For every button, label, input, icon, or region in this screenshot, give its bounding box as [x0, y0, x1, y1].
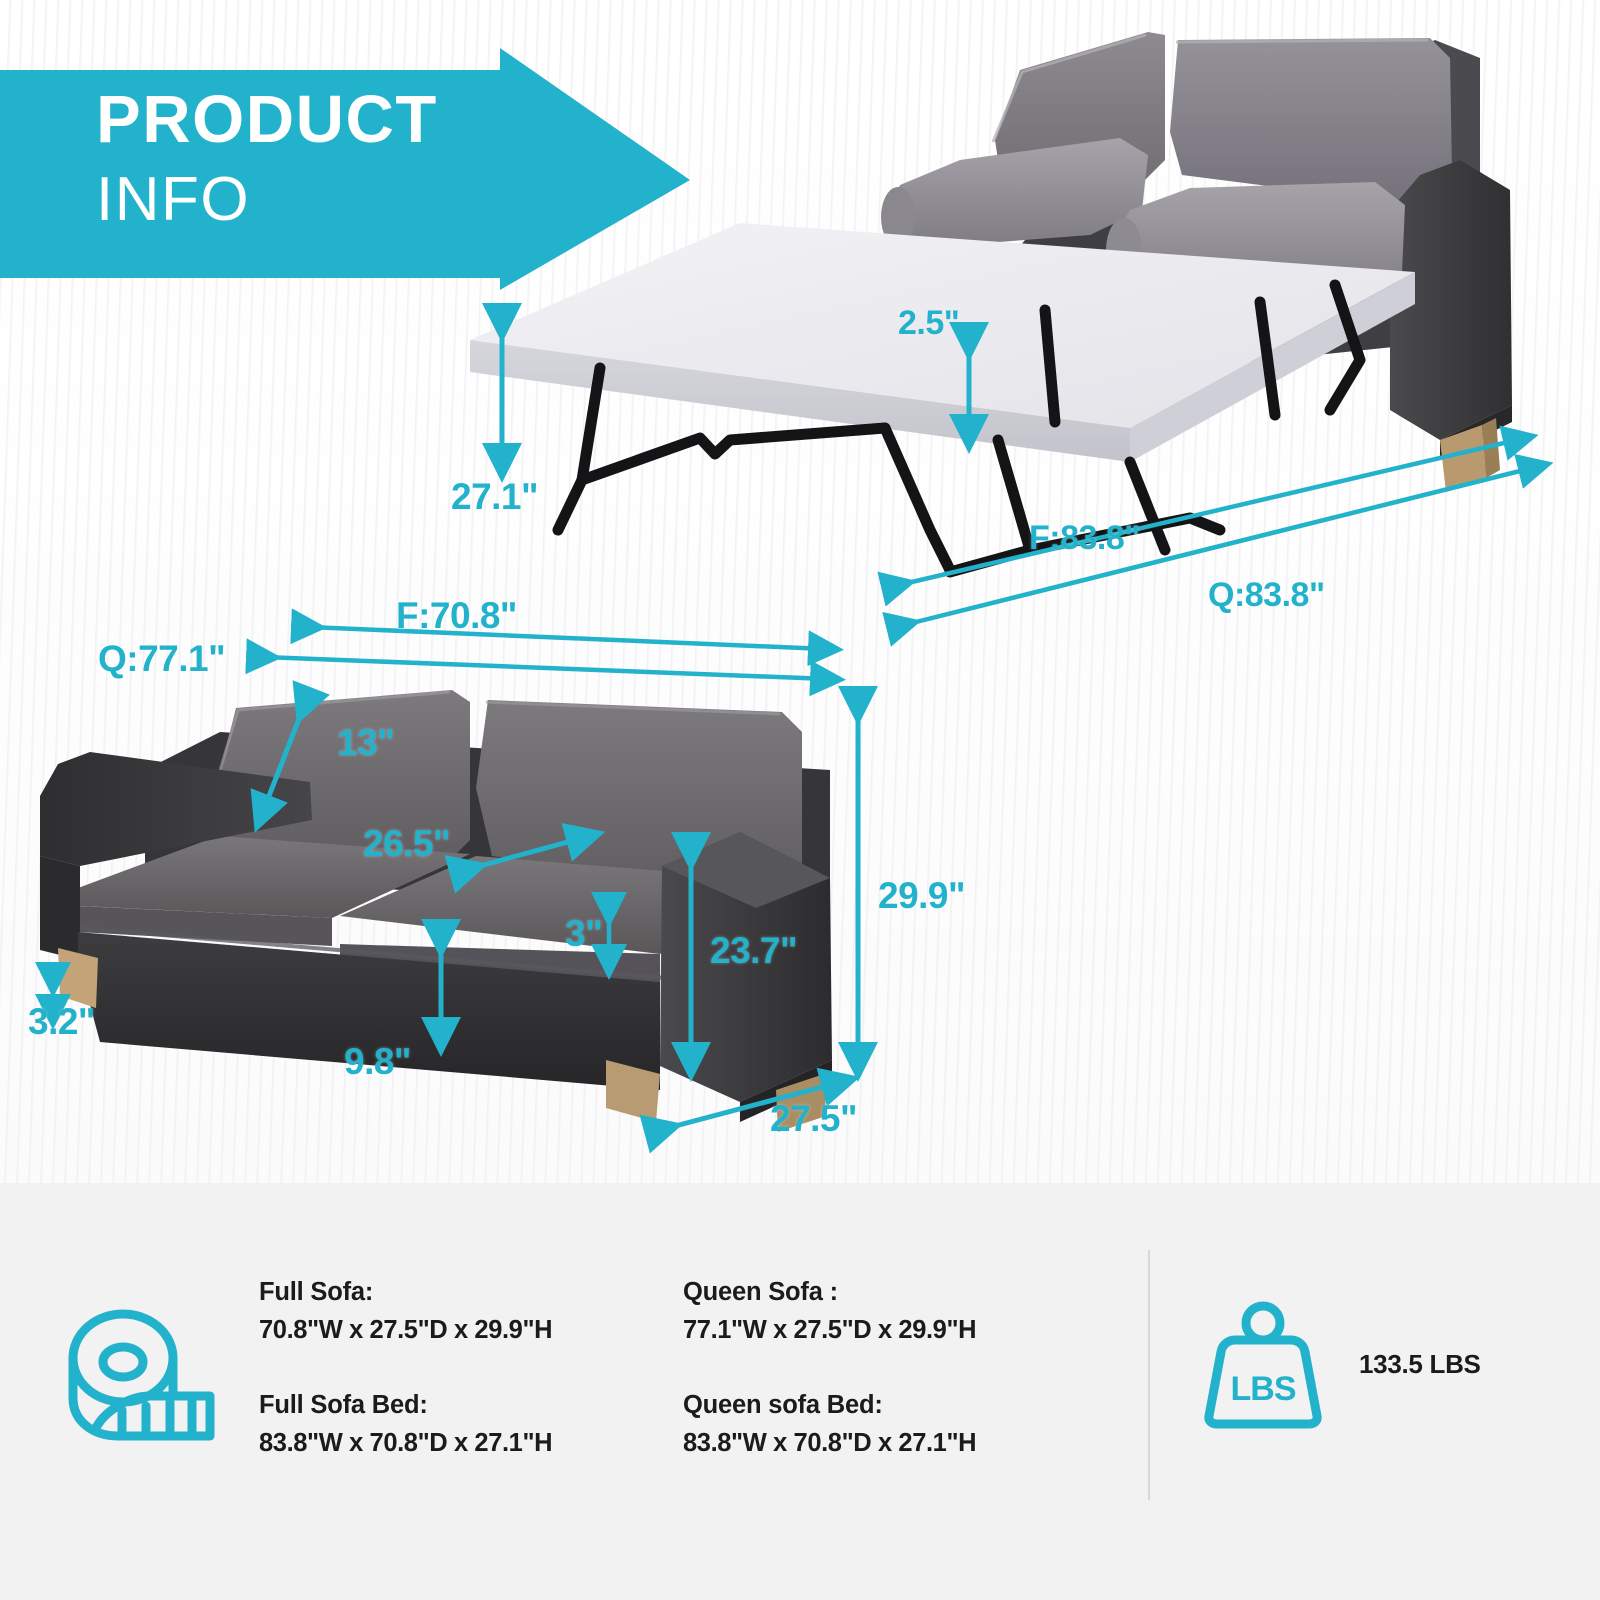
spec-group-full-sofa: Full Sofa: 70.8"W x 27.5"D x 29.9"H: [259, 1278, 679, 1345]
spec-value-full-sofa-bed: 83.8"W x 70.8"D x 27.1"H: [259, 1429, 679, 1458]
spec-value-queen-sofa: 77.1"W x 27.5"D x 29.9"H: [683, 1316, 1113, 1345]
sofa-leg-front-left: [58, 948, 98, 1008]
dim-label-bed-height: 27.1": [451, 476, 538, 518]
spec-group-queen-sofa: Queen Sofa : 77.1"W x 27.5"D x 29.9"H: [683, 1278, 1113, 1345]
dim-label-mattress-thickness: 2.5": [898, 304, 959, 343]
right-arrow-banner-icon: [0, 48, 690, 290]
spec-column-full: Full Sofa: 70.8"W x 27.5"D x 29.9"H Full…: [259, 1278, 679, 1504]
panel-divider: [1148, 1250, 1150, 1500]
dim-label-seat-cushion-thickness: 3": [565, 913, 602, 955]
weight-lbs-icon: LBS: [1205, 1300, 1321, 1428]
weight-value-label: 133.5 LBS: [1359, 1349, 1481, 1380]
dim-label-leg-height: 3.2": [28, 1001, 95, 1043]
dim-label-seat-height: 9.8": [344, 1041, 411, 1083]
dim-arrow-seat-height: [428, 933, 454, 1043]
dim-label-full-sofa-width: F:70.8": [396, 595, 517, 637]
spec-title-queen-sofa: Queen Sofa :: [683, 1278, 1113, 1307]
dim-label-queen-sofa-width: Q:77.1": [98, 638, 225, 680]
dim-arrow-arm-height: [678, 846, 704, 1068]
dim-arrow-mattress-thickness: [955, 338, 985, 438]
dim-label-overall-height: 29.9": [878, 875, 965, 917]
dim-arrow-back-cushion-height: [248, 700, 318, 820]
product-info-graphic: 2.5" 27.1" F:83.8" Q:83.8": [0, 0, 1600, 1600]
dim-label-seat-depth: 26.5": [363, 823, 450, 865]
spec-title-full-sofa-bed: Full Sofa Bed:: [259, 1391, 679, 1420]
dim-label-arm-height: 23.7": [710, 930, 797, 972]
spec-title-full-sofa: Full Sofa:: [259, 1278, 679, 1307]
product-info-banner: [0, 70, 700, 290]
spec-value-full-sofa: 70.8"W x 27.5"D x 29.9"H: [259, 1316, 679, 1345]
spec-column-queen: Queen Sofa : 77.1"W x 27.5"D x 29.9"H Qu…: [683, 1278, 1113, 1504]
dim-label-sofa-depth: 27.5": [770, 1098, 857, 1140]
dim-arrow-overall-height: [845, 700, 871, 1068]
product-photo-area: 2.5" 27.1" F:83.8" Q:83.8": [0, 0, 1600, 1183]
dim-label-back-cushion-height: 13": [337, 722, 394, 764]
svg-text:LBS: LBS: [1231, 1370, 1296, 1408]
dim-arrow-queen-sofa-width: [250, 645, 842, 691]
tape-measure-icon: [60, 1300, 230, 1455]
dim-label-queen-bed-length: Q:83.8": [1208, 576, 1325, 615]
spec-group-full-sofa-bed: Full Sofa Bed: 83.8"W x 70.8"D x 27.1"H: [259, 1391, 679, 1458]
sofa-closed-illustration: [40, 660, 870, 1130]
weight-block: LBS 133.5 LBS: [1205, 1300, 1481, 1428]
spec-value-queen-sofa-bed: 83.8"W x 70.8"D x 27.1"H: [683, 1429, 1113, 1458]
sofa-bed-back-cushion-right: [1170, 38, 1452, 206]
spec-title-queen-sofa-bed: Queen sofa Bed:: [683, 1391, 1113, 1420]
dim-arrow-seat-depth: [455, 823, 600, 883]
dim-arrow-bed-height: [488, 318, 518, 468]
spec-group-queen-sofa-bed: Queen sofa Bed: 83.8"W x 70.8"D x 27.1"H: [683, 1391, 1113, 1458]
